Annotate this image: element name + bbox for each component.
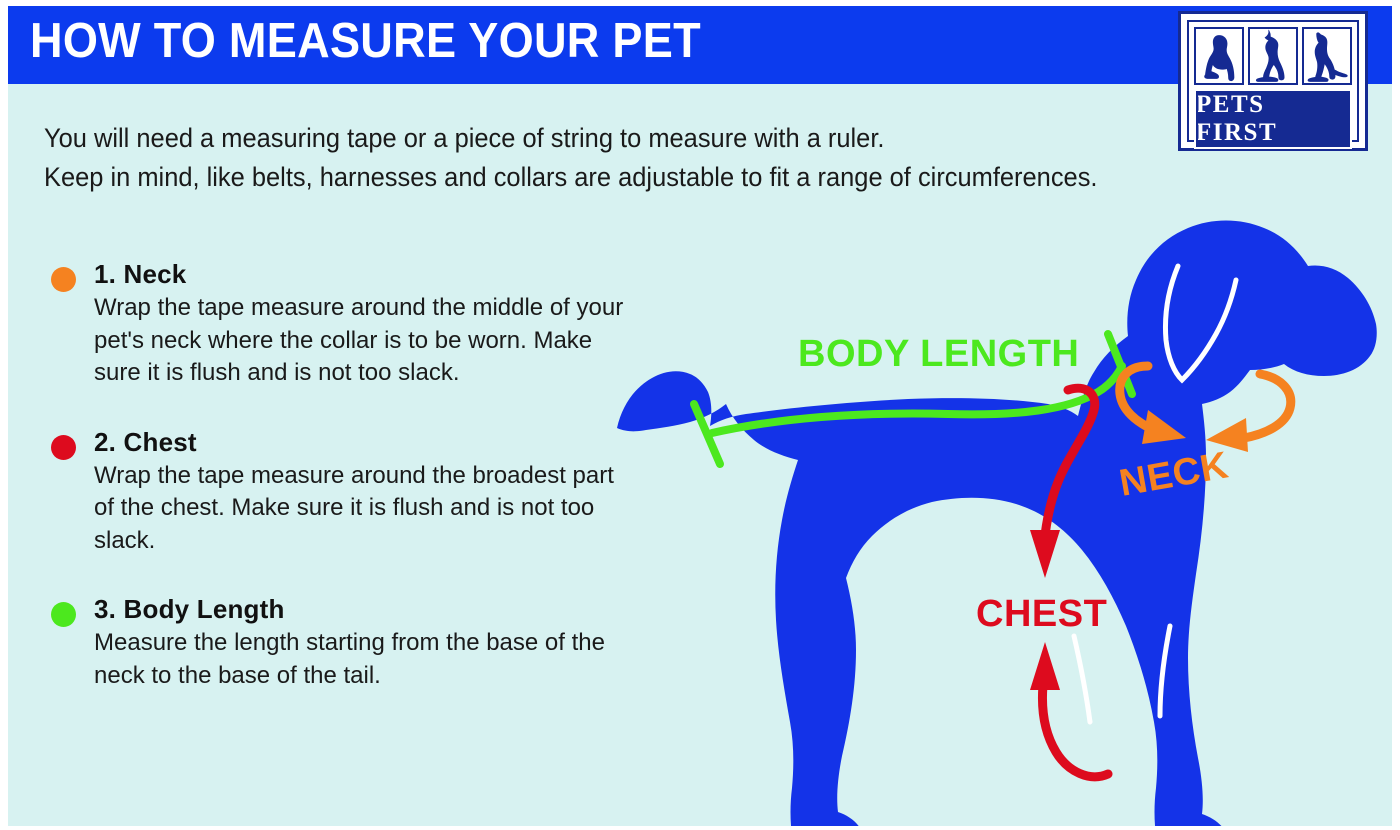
step-body-neck: Wrap the tape measure around the middle …	[94, 292, 639, 390]
logo-inner-frame: PETS FIRST	[1187, 20, 1359, 142]
logo-dog-panels	[1194, 27, 1352, 85]
shepherd-dog-silhouette-icon	[1302, 27, 1352, 85]
howling-dog-silhouette-icon	[1248, 27, 1298, 85]
dog-measurement-diagram: BODY LENGTH NECK CHEST	[608, 206, 1400, 830]
infographic-page: HOW TO MEASURE YOUR PET	[0, 0, 1400, 830]
intro-line-1: You will need a measuring tape or a piec…	[44, 119, 1129, 158]
bullet-body-length	[51, 602, 76, 627]
step-body-chest: Wrap the tape measure around the broades…	[94, 460, 639, 558]
pets-first-logo: PETS FIRST	[1178, 11, 1368, 151]
step-title-body-length: 3. Body Length	[94, 593, 644, 625]
intro-line-2: Keep in mind, like belts, harnesses and …	[44, 158, 1129, 197]
step-item-chest: 2. Chest Wrap the tape measure around th…	[44, 426, 644, 558]
measurement-steps-list: 1. Neck Wrap the tape measure around the…	[44, 258, 644, 722]
step-title-chest: 2. Chest	[94, 426, 644, 458]
label-body-length: BODY LENGTH	[798, 333, 1079, 375]
sitting-dog-silhouette-icon	[1194, 27, 1244, 85]
page-title: HOW TO MEASURE YOUR PET	[30, 12, 701, 70]
bullet-neck	[51, 267, 76, 292]
logo-wordmark: PETS FIRST	[1194, 89, 1352, 149]
label-chest: CHEST	[976, 593, 1107, 635]
dog-silhouette	[617, 221, 1377, 830]
step-item-body-length: 3. Body Length Measure the length starti…	[44, 593, 644, 692]
bullet-chest	[51, 435, 76, 460]
step-body-body-length: Measure the length starting from the bas…	[94, 627, 639, 692]
intro-text: You will need a measuring tape or a piec…	[44, 119, 1129, 197]
step-item-neck: 1. Neck Wrap the tape measure around the…	[44, 258, 644, 390]
step-title-neck: 1. Neck	[94, 258, 644, 290]
